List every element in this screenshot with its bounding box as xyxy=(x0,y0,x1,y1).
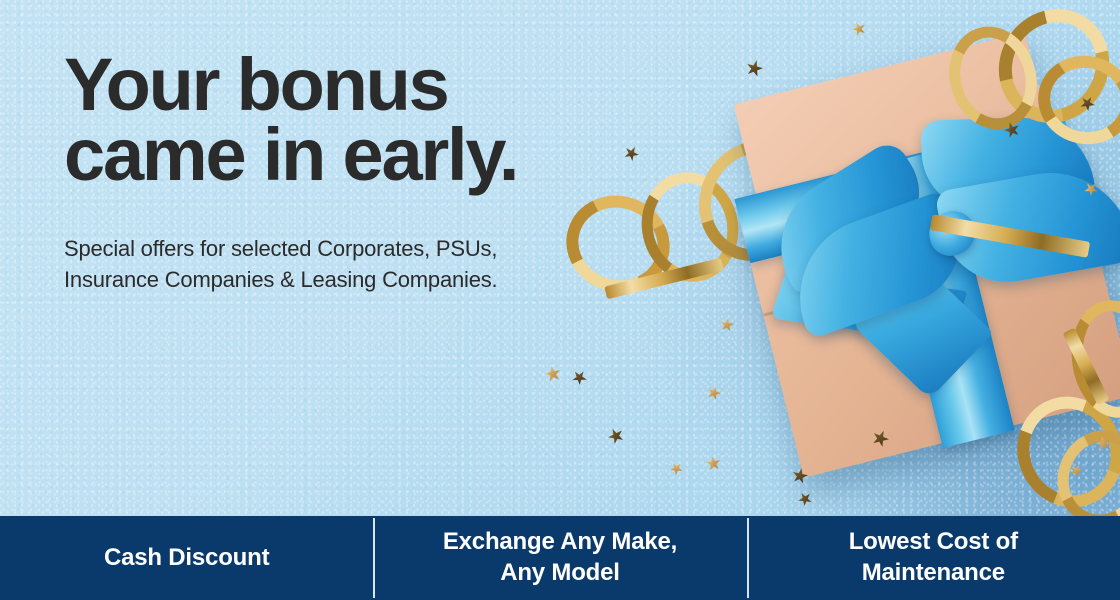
star-confetti-icon xyxy=(667,459,685,477)
feature-bar: Cash Discount Exchange Any Make, Any Mod… xyxy=(0,516,1120,600)
feature-label: Exchange Any Make, Any Model xyxy=(443,527,677,588)
feature-cell-exchange-any-make[interactable]: Exchange Any Make, Any Model xyxy=(373,516,746,600)
feature-cell-lowest-cost-maintenance[interactable]: Lowest Cost of Maintenance xyxy=(747,516,1120,600)
star-confetti-icon xyxy=(621,143,641,163)
star-confetti-icon xyxy=(705,384,723,402)
page-subtitle: Special offers for selected Corporates, … xyxy=(64,233,624,295)
page-title: Your bonus came in early. xyxy=(64,50,624,191)
star-confetti-icon xyxy=(605,425,626,446)
star-confetti-icon xyxy=(569,367,590,388)
promo-banner: Your bonus came in early. Special offers… xyxy=(0,0,1120,600)
hero-copy: Your bonus came in early. Special offers… xyxy=(64,50,624,295)
star-confetti-icon xyxy=(705,455,722,472)
feature-cell-cash-discount[interactable]: Cash Discount xyxy=(0,516,373,600)
star-confetti-icon xyxy=(850,20,868,38)
star-confetti-icon xyxy=(719,317,735,333)
star-confetti-icon xyxy=(544,365,563,384)
feature-label: Lowest Cost of Maintenance xyxy=(849,527,1018,588)
feature-label: Cash Discount xyxy=(104,543,269,574)
